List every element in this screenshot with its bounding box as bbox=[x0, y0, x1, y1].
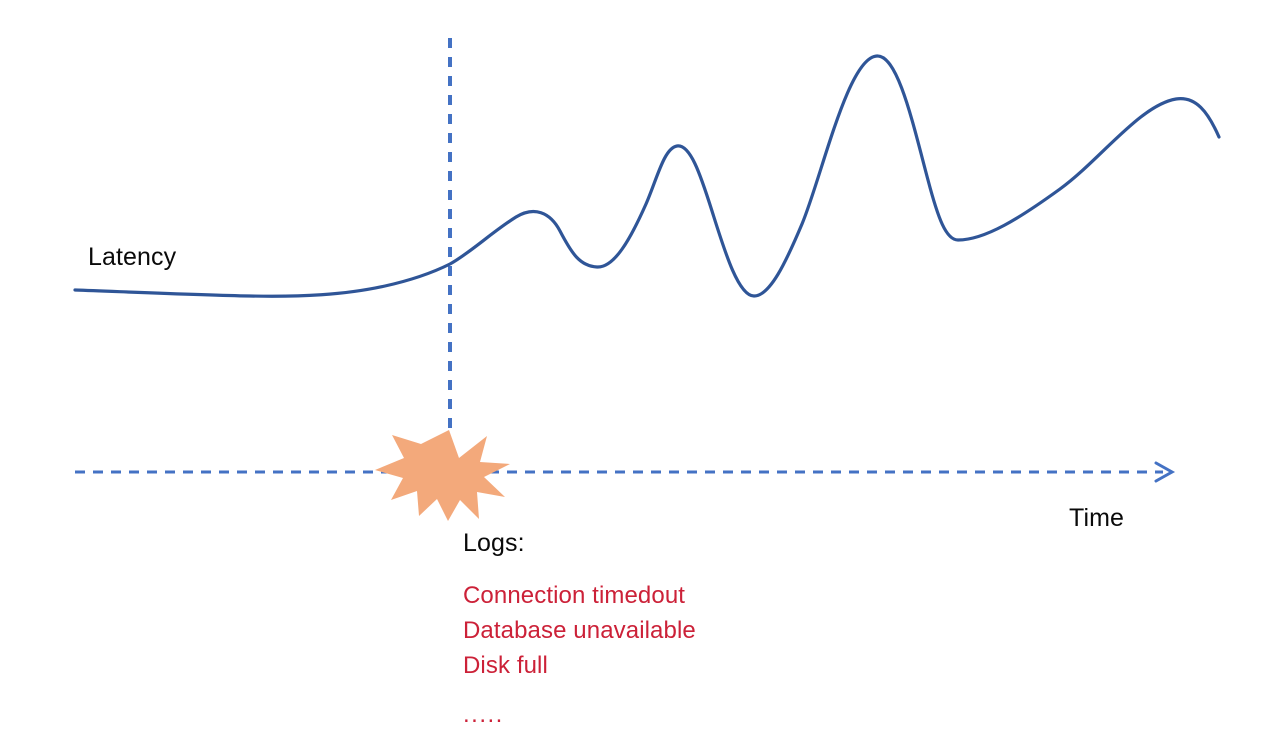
latency-curve bbox=[75, 56, 1219, 296]
logs-heading: Logs: bbox=[463, 531, 525, 556]
log-entry: Connection timedout bbox=[463, 578, 883, 613]
y-axis-label: Latency bbox=[88, 245, 176, 270]
log-entry: Disk full bbox=[463, 648, 883, 683]
incident-starburst-icon bbox=[375, 430, 510, 521]
logs-list: Connection timedout Database unavailable… bbox=[463, 578, 883, 732]
log-entry: Database unavailable bbox=[463, 613, 883, 648]
log-entry-ellipsis: ..... bbox=[463, 697, 883, 732]
x-axis-label: Time bbox=[1069, 506, 1124, 531]
diagram-canvas: Latency Time Logs: Connection timedout D… bbox=[0, 0, 1276, 744]
